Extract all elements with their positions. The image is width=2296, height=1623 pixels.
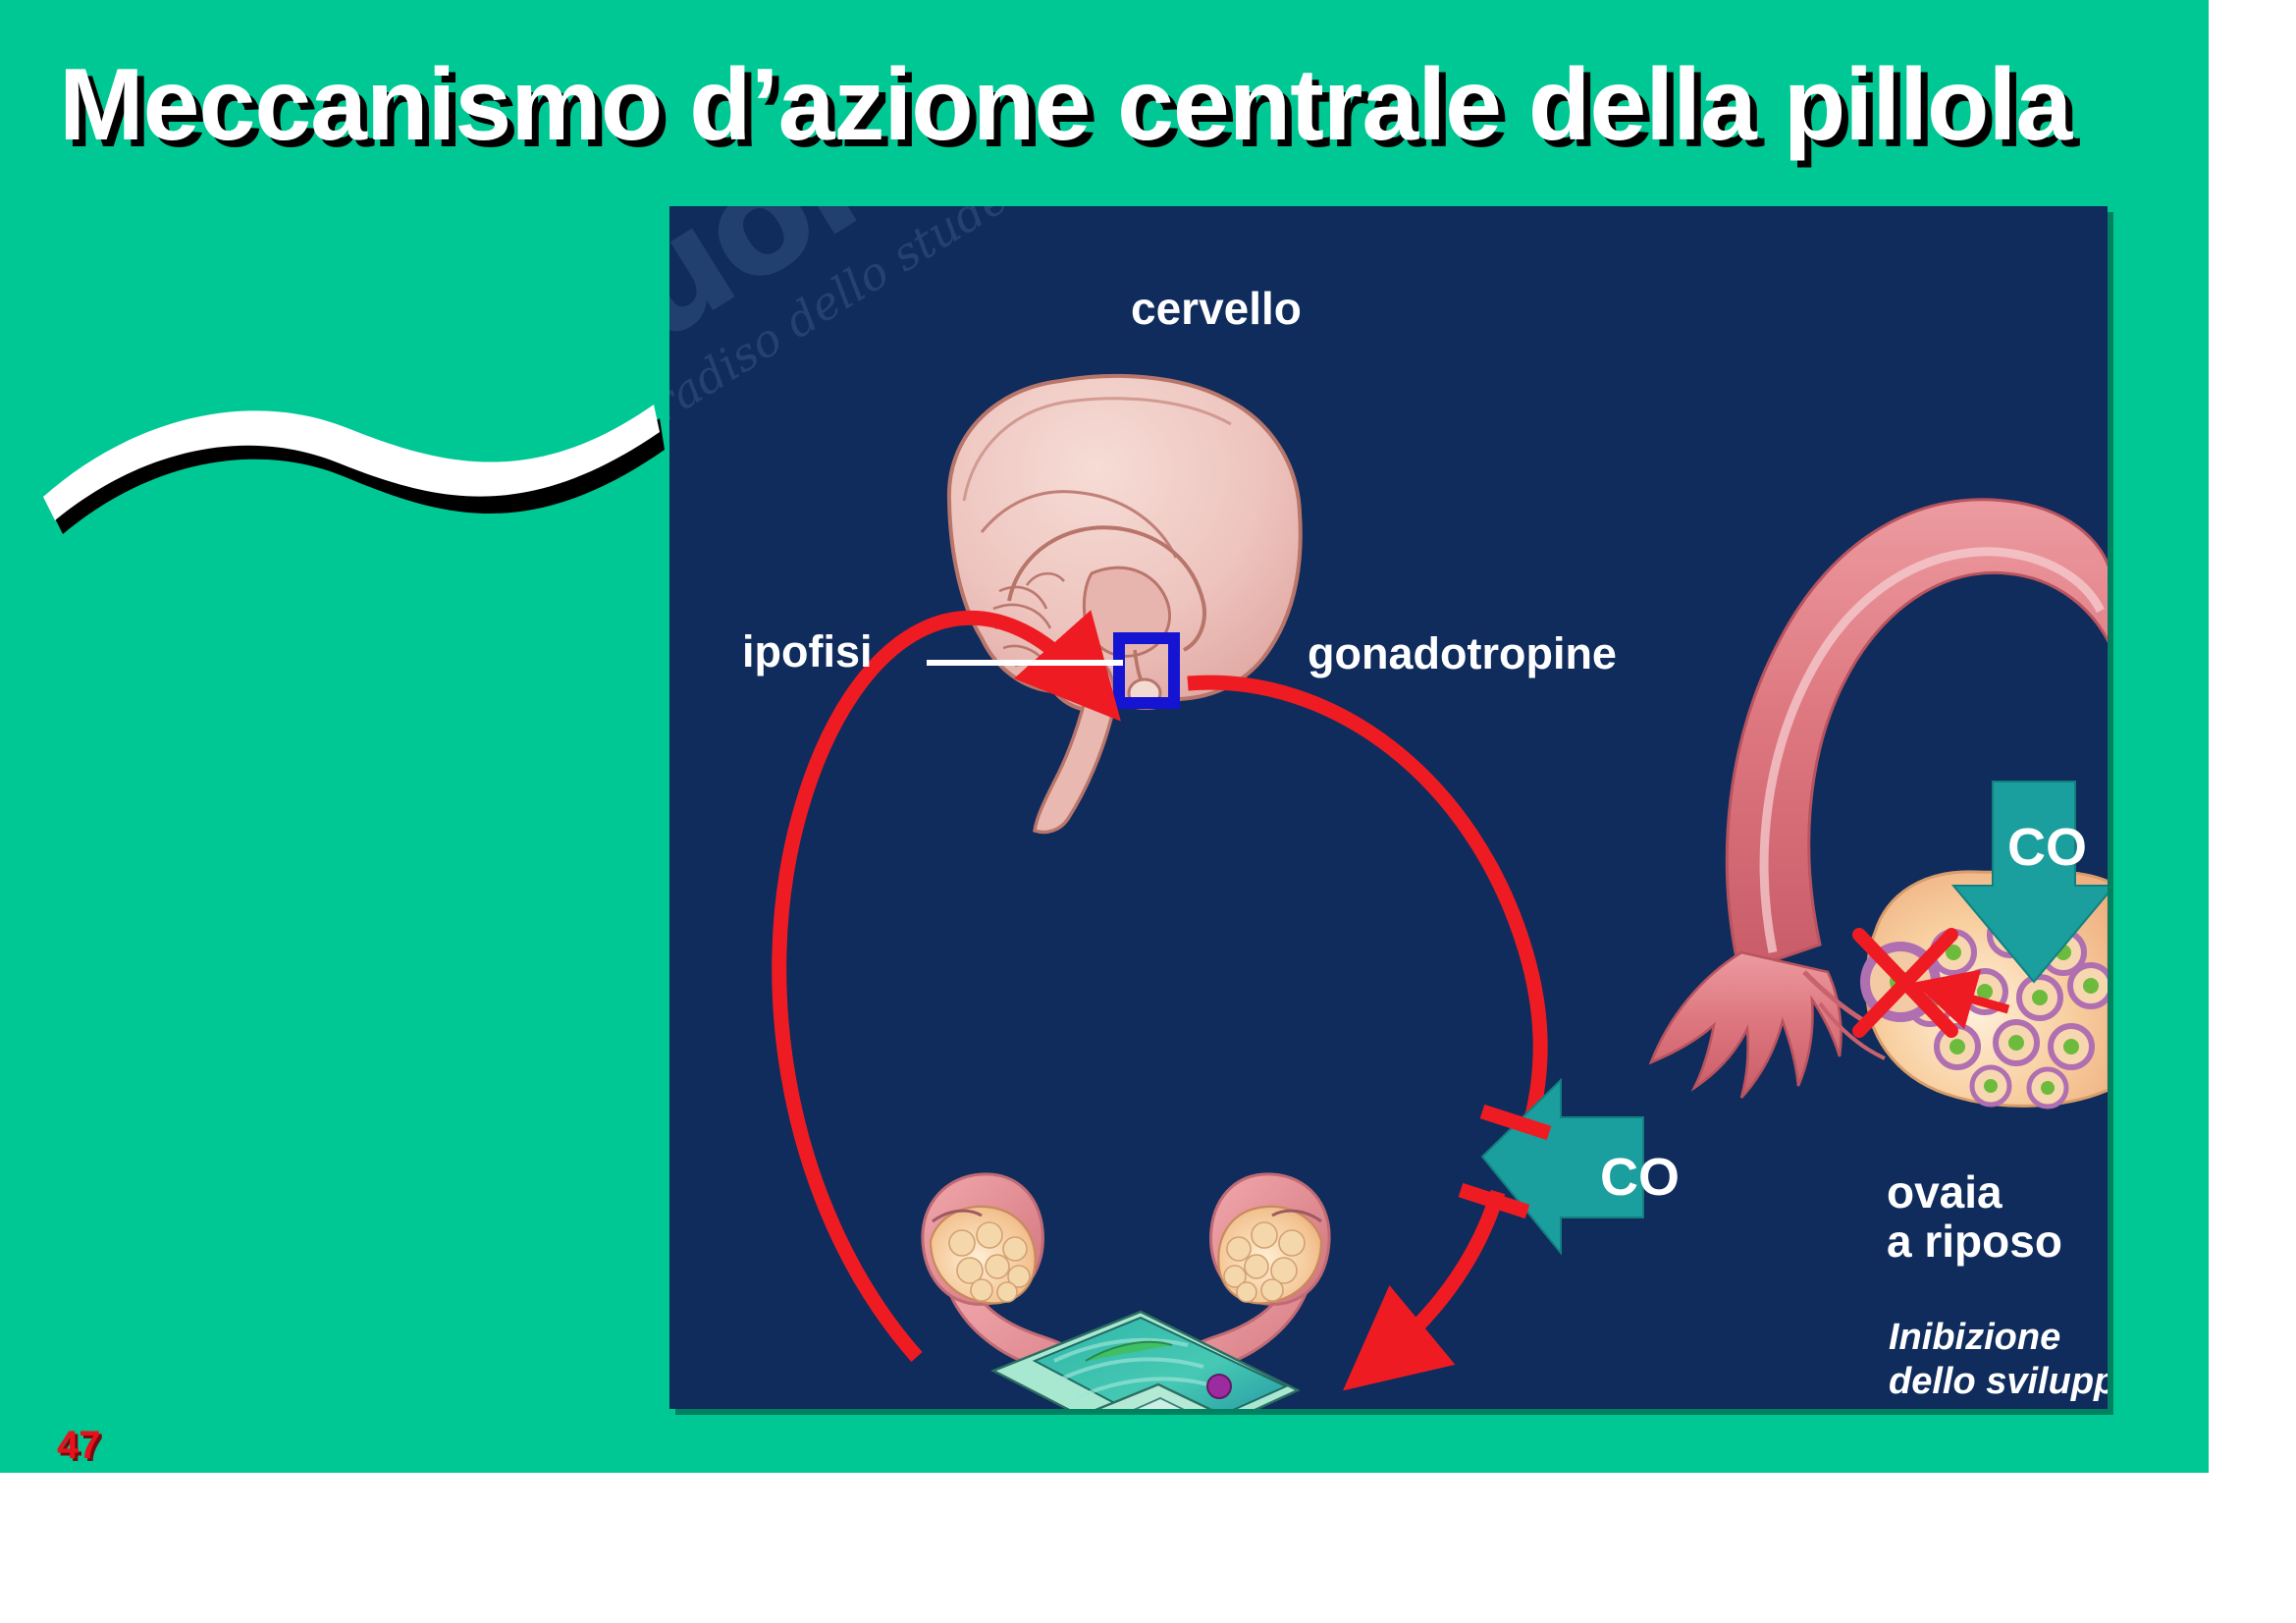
gonadotropin-arrow-lower [1386, 1192, 1498, 1355]
page-number: 47 [57, 1424, 101, 1468]
pill-pack-illustration [993, 1312, 1347, 1409]
label-ipofisi: ipofisi [742, 628, 873, 676]
diagram-panel: skuola il paradiso dello studente [669, 206, 2108, 1409]
co-arrow-left [1482, 1080, 1643, 1253]
swoosh-decoration [22, 324, 689, 569]
ipofisi-leader-line [927, 660, 1123, 666]
gonadotropin-arrow-upper [1188, 682, 1540, 1119]
label-ovaia-a-riposo: ovaia a riposo [1887, 1168, 2062, 1266]
brain-illustration [949, 376, 1301, 833]
page-title: Meccanismo d’azione centrale della pillo… [59, 47, 2120, 164]
label-cervello: cervello [1131, 285, 1302, 334]
label-inibizione-text: Inibizione dello sviluppo del follicolo … [1889, 1316, 2108, 1409]
label-gonadotropine: gonadotropine [1308, 630, 1617, 678]
